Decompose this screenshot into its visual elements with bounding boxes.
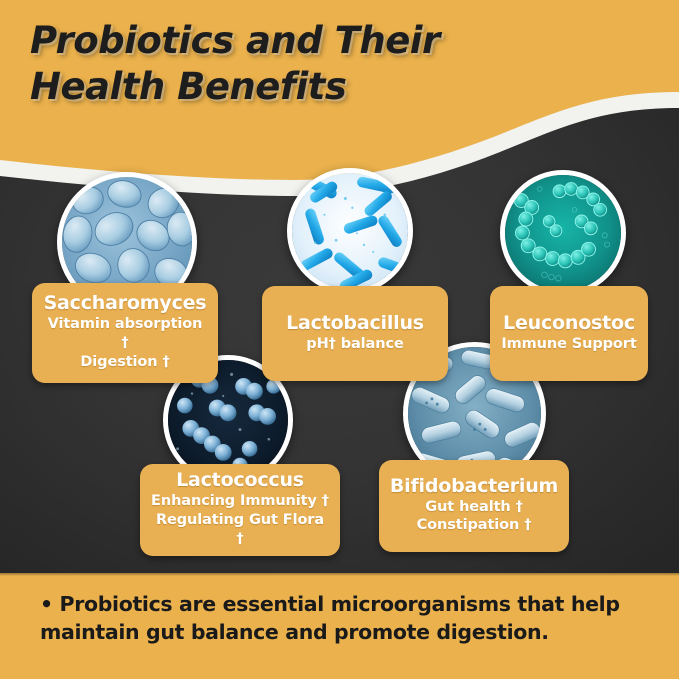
benefit-lactobacillus-1: pH† balance [272,335,438,354]
page-title: Probiotics and Their Health Benefits [30,18,500,110]
benefit-lactococcus-1: Enhancing Immunity † [150,492,330,511]
genus-name-lactococcus: Lactococcus [150,470,330,492]
benefit-leuconostoc-1: Immune Support [500,335,638,354]
benefit-bifidobacterium-2: Constipation † [389,516,559,535]
genus-name-lactobacillus: Lactobacillus [272,313,438,335]
footer-summary-text: • Probiotics are essential microorganism… [40,590,650,647]
label-plate-lactobacillus[interactable]: Lactobacillus pH† balance [262,286,448,381]
benefit-bifidobacterium-1: Gut health † [389,498,559,517]
organism-image-lactobacillus [287,168,413,294]
label-plate-bifidobacterium[interactable]: Bifidobacterium Gut health † Constipatio… [379,460,569,552]
label-plate-lactococcus[interactable]: Lactococcus Enhancing Immunity † Regulat… [140,464,340,556]
benefit-saccharomyces-2: Digestion † [42,353,208,372]
probiotics-infographic: Probiotics and Their Health Benefits [0,0,679,679]
label-plate-saccharomyces[interactable]: Saccharomyces Vitamin absorption † Diges… [32,283,218,383]
organism-image-leuconostoc [500,170,626,296]
footer-band-shadow [0,573,679,576]
genus-name-saccharomyces: Saccharomyces [42,293,208,315]
genus-name-bifidobacterium: Bifidobacterium [389,476,559,498]
genus-name-leuconostoc: Leuconostoc [500,313,638,335]
benefit-lactococcus-2: Regulating Gut Flora † [150,511,330,549]
label-plate-leuconostoc[interactable]: Leuconostoc Immune Support [490,286,648,381]
benefit-saccharomyces-1: Vitamin absorption † [42,315,208,353]
